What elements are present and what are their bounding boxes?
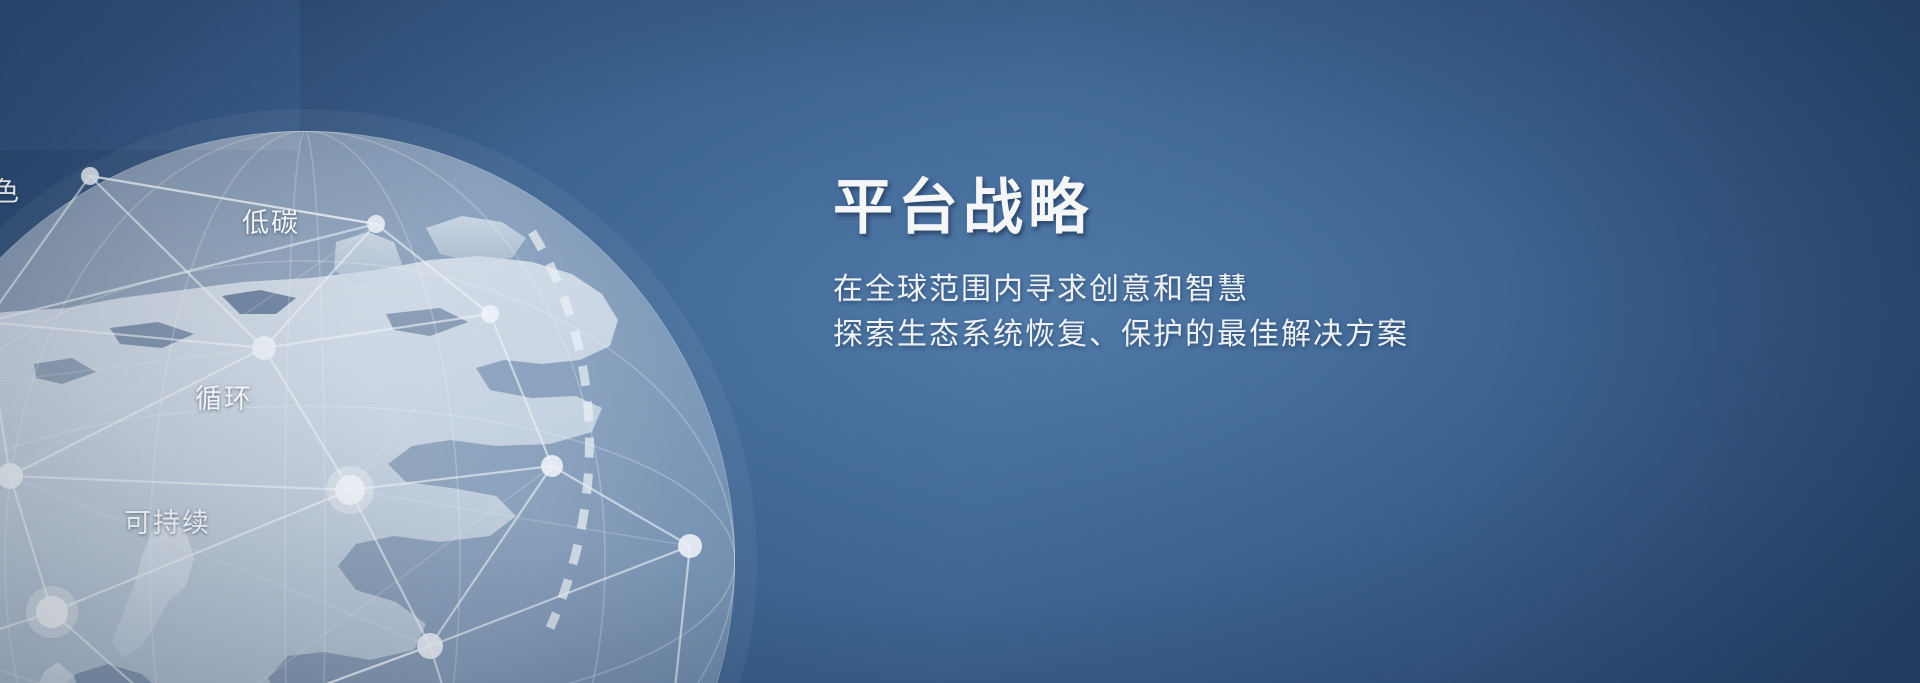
hero-banner: 绿色 低碳 循环 可持续 平台战略 在全球范围内寻求创意和智慧 探索生态系统恢复… bbox=[0, 0, 1920, 683]
hero-copy: 平台战略 在全球范围内寻求创意和智慧 探索生态系统恢复、保护的最佳解决方案 bbox=[833, 176, 1593, 358]
page-title: 平台战略 bbox=[833, 176, 1593, 241]
globe-label-low-carbon: 低碳 bbox=[242, 201, 300, 240]
hero-subtitle-line-1: 在全球范围内寻求创意和智慧 bbox=[833, 267, 1593, 313]
world-network-globe: 绿色 低碳 循环 可持续 bbox=[0, 46, 820, 683]
globe-label-circular: 循环 bbox=[195, 377, 253, 416]
globe-label-green: 绿色 bbox=[0, 170, 21, 209]
hero-subtitle-line-2: 探索生态系统恢复、保护的最佳解决方案 bbox=[833, 312, 1593, 358]
globe-label-sustainable: 可持续 bbox=[124, 501, 211, 540]
